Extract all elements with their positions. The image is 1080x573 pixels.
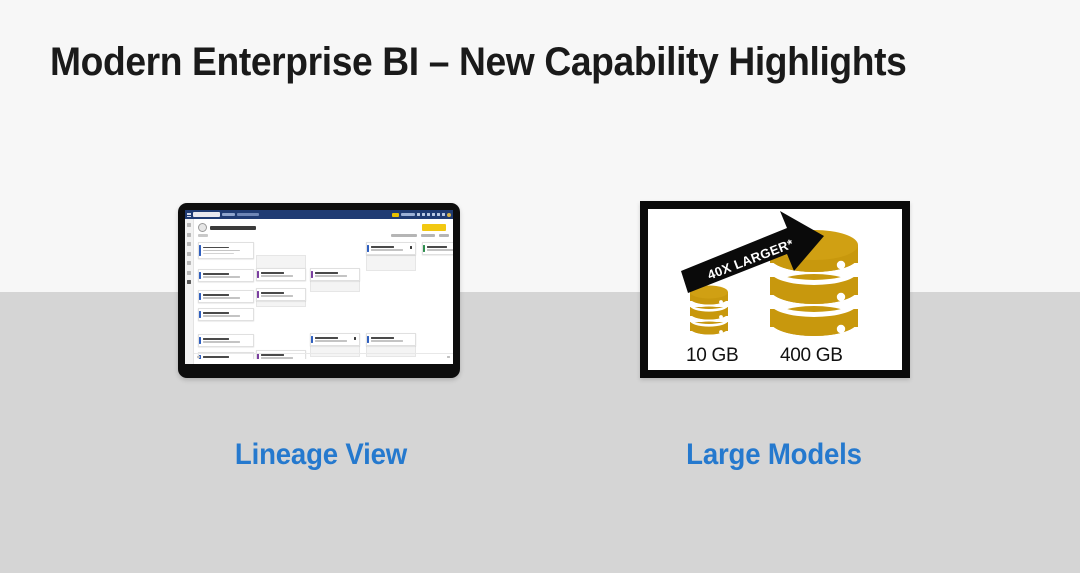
slide-canvas: Modern Enterprise BI – New Capability Hi…: [0, 0, 1080, 573]
large-models-picture-frame: 40X LARGER* 10 GB 400 GB: [640, 201, 910, 378]
toolbar-refresh-button[interactable]: [421, 234, 435, 237]
card-accent-bar: [311, 271, 313, 278]
toolbar-collapse-all-button[interactable]: [391, 234, 417, 237]
card-accent-bar: [199, 311, 201, 318]
sidebar-item-shared-icon[interactable]: [187, 261, 191, 265]
notifications-icon[interactable]: [422, 213, 425, 216]
card-text-lines: [261, 291, 303, 298]
card-accent-bar: [367, 336, 369, 343]
lineage-card[interactable]: [198, 242, 254, 259]
lineage-card[interactable]: [256, 268, 306, 281]
download-icon[interactable]: [427, 213, 430, 216]
breadcrumb-item-workspace[interactable]: [222, 213, 235, 216]
arrow-label-wrapper: 40X LARGER*: [682, 231, 872, 305]
card-text-lines: [203, 293, 251, 300]
card-accent-bar: [199, 272, 201, 279]
arrow-label: 40X LARGER*: [705, 236, 795, 283]
large-database-label: 400 GB: [780, 345, 843, 367]
search-icon[interactable]: [417, 213, 420, 216]
card-text-lines: [315, 336, 357, 343]
gear-icon[interactable]: [432, 213, 435, 216]
lineage-card[interactable]: [198, 308, 254, 321]
back-button[interactable]: [198, 234, 208, 237]
toolbar-zoom-control[interactable]: [439, 234, 449, 237]
lineage-card[interactable]: [198, 269, 254, 282]
avatar[interactable]: [447, 213, 451, 217]
trial-badge-label: [401, 213, 415, 216]
sidebar-item-recent-icon[interactable]: [187, 242, 191, 246]
feedback-icon[interactable]: [442, 213, 445, 216]
left-nav-rail: [185, 219, 194, 364]
card-badge-icon: [410, 246, 413, 249]
sidebar-item-favorites-icon[interactable]: [187, 233, 191, 237]
hamburger-menu-icon[interactable]: [187, 213, 191, 217]
footer-left-control[interactable]: [197, 356, 200, 358]
help-icon[interactable]: [437, 213, 440, 216]
powerbi-topbar: [185, 210, 453, 219]
lineage-card-shadow: [310, 280, 360, 292]
lineage-canvas[interactable]: [194, 240, 453, 359]
card-text-lines: [261, 271, 303, 278]
lineage-card[interactable]: [310, 333, 360, 346]
card-accent-bar: [257, 291, 259, 298]
caption-large-models: Large Models: [645, 438, 903, 472]
sidebar-item-workspaces-icon[interactable]: [187, 280, 191, 284]
powerbi-logo: [193, 212, 220, 218]
create-new-button[interactable]: [422, 224, 446, 231]
lineage-card[interactable]: [198, 290, 254, 303]
card-text-lines: [427, 245, 453, 252]
powerbi-main-content: [194, 219, 453, 364]
powerbi-body: [185, 219, 453, 364]
card-accent-bar: [423, 245, 425, 252]
card-accent-bar: [199, 293, 201, 300]
card-text-lines: [203, 272, 251, 279]
page-title: Modern Enterprise BI – New Capability Hi…: [50, 40, 906, 85]
card-text-lines: [371, 245, 413, 252]
background-band-bottom: [0, 292, 1080, 573]
lineage-card[interactable]: [366, 242, 416, 255]
lineage-footer-bar: [194, 353, 453, 359]
card-accent-bar: [199, 337, 201, 344]
card-accent-bar: [367, 245, 369, 252]
sidebar-item-apps-icon[interactable]: [187, 271, 191, 275]
small-database-label: 10 GB: [686, 345, 738, 367]
card-accent-bar: [311, 336, 313, 343]
sidebar-item-home-icon[interactable]: [187, 223, 191, 227]
breadcrumb-item-lineage[interactable]: [237, 213, 259, 216]
lineage-card[interactable]: [256, 288, 306, 301]
lineage-view-screenshot: [185, 210, 453, 364]
caption-lineage-view: Lineage View: [192, 438, 450, 472]
workspace-header: [194, 219, 453, 234]
card-text-lines: [203, 337, 251, 344]
lineage-card[interactable]: [310, 268, 360, 281]
workspace-title: [210, 226, 256, 230]
lineage-card-shadow: [366, 255, 416, 271]
sidebar-item-created-icon[interactable]: [187, 252, 191, 256]
card-text-lines: [203, 311, 251, 318]
lineage-view-device-frame: [178, 203, 460, 378]
lineage-card[interactable]: [422, 242, 453, 255]
card-accent-bar: [199, 245, 201, 256]
card-accent-bar: [257, 271, 259, 278]
card-badge-icon: [354, 337, 357, 340]
lineage-card[interactable]: [198, 334, 254, 347]
footer-right-control[interactable]: [447, 356, 450, 358]
card-text-lines: [371, 336, 413, 343]
lineage-card[interactable]: [366, 333, 416, 346]
large-models-illustration: 40X LARGER* 10 GB 400 GB: [648, 209, 902, 370]
workspace-avatar: [198, 223, 207, 232]
card-text-lines: [315, 271, 357, 278]
trial-badge-icon: [392, 213, 399, 217]
card-text-lines: [203, 245, 251, 256]
